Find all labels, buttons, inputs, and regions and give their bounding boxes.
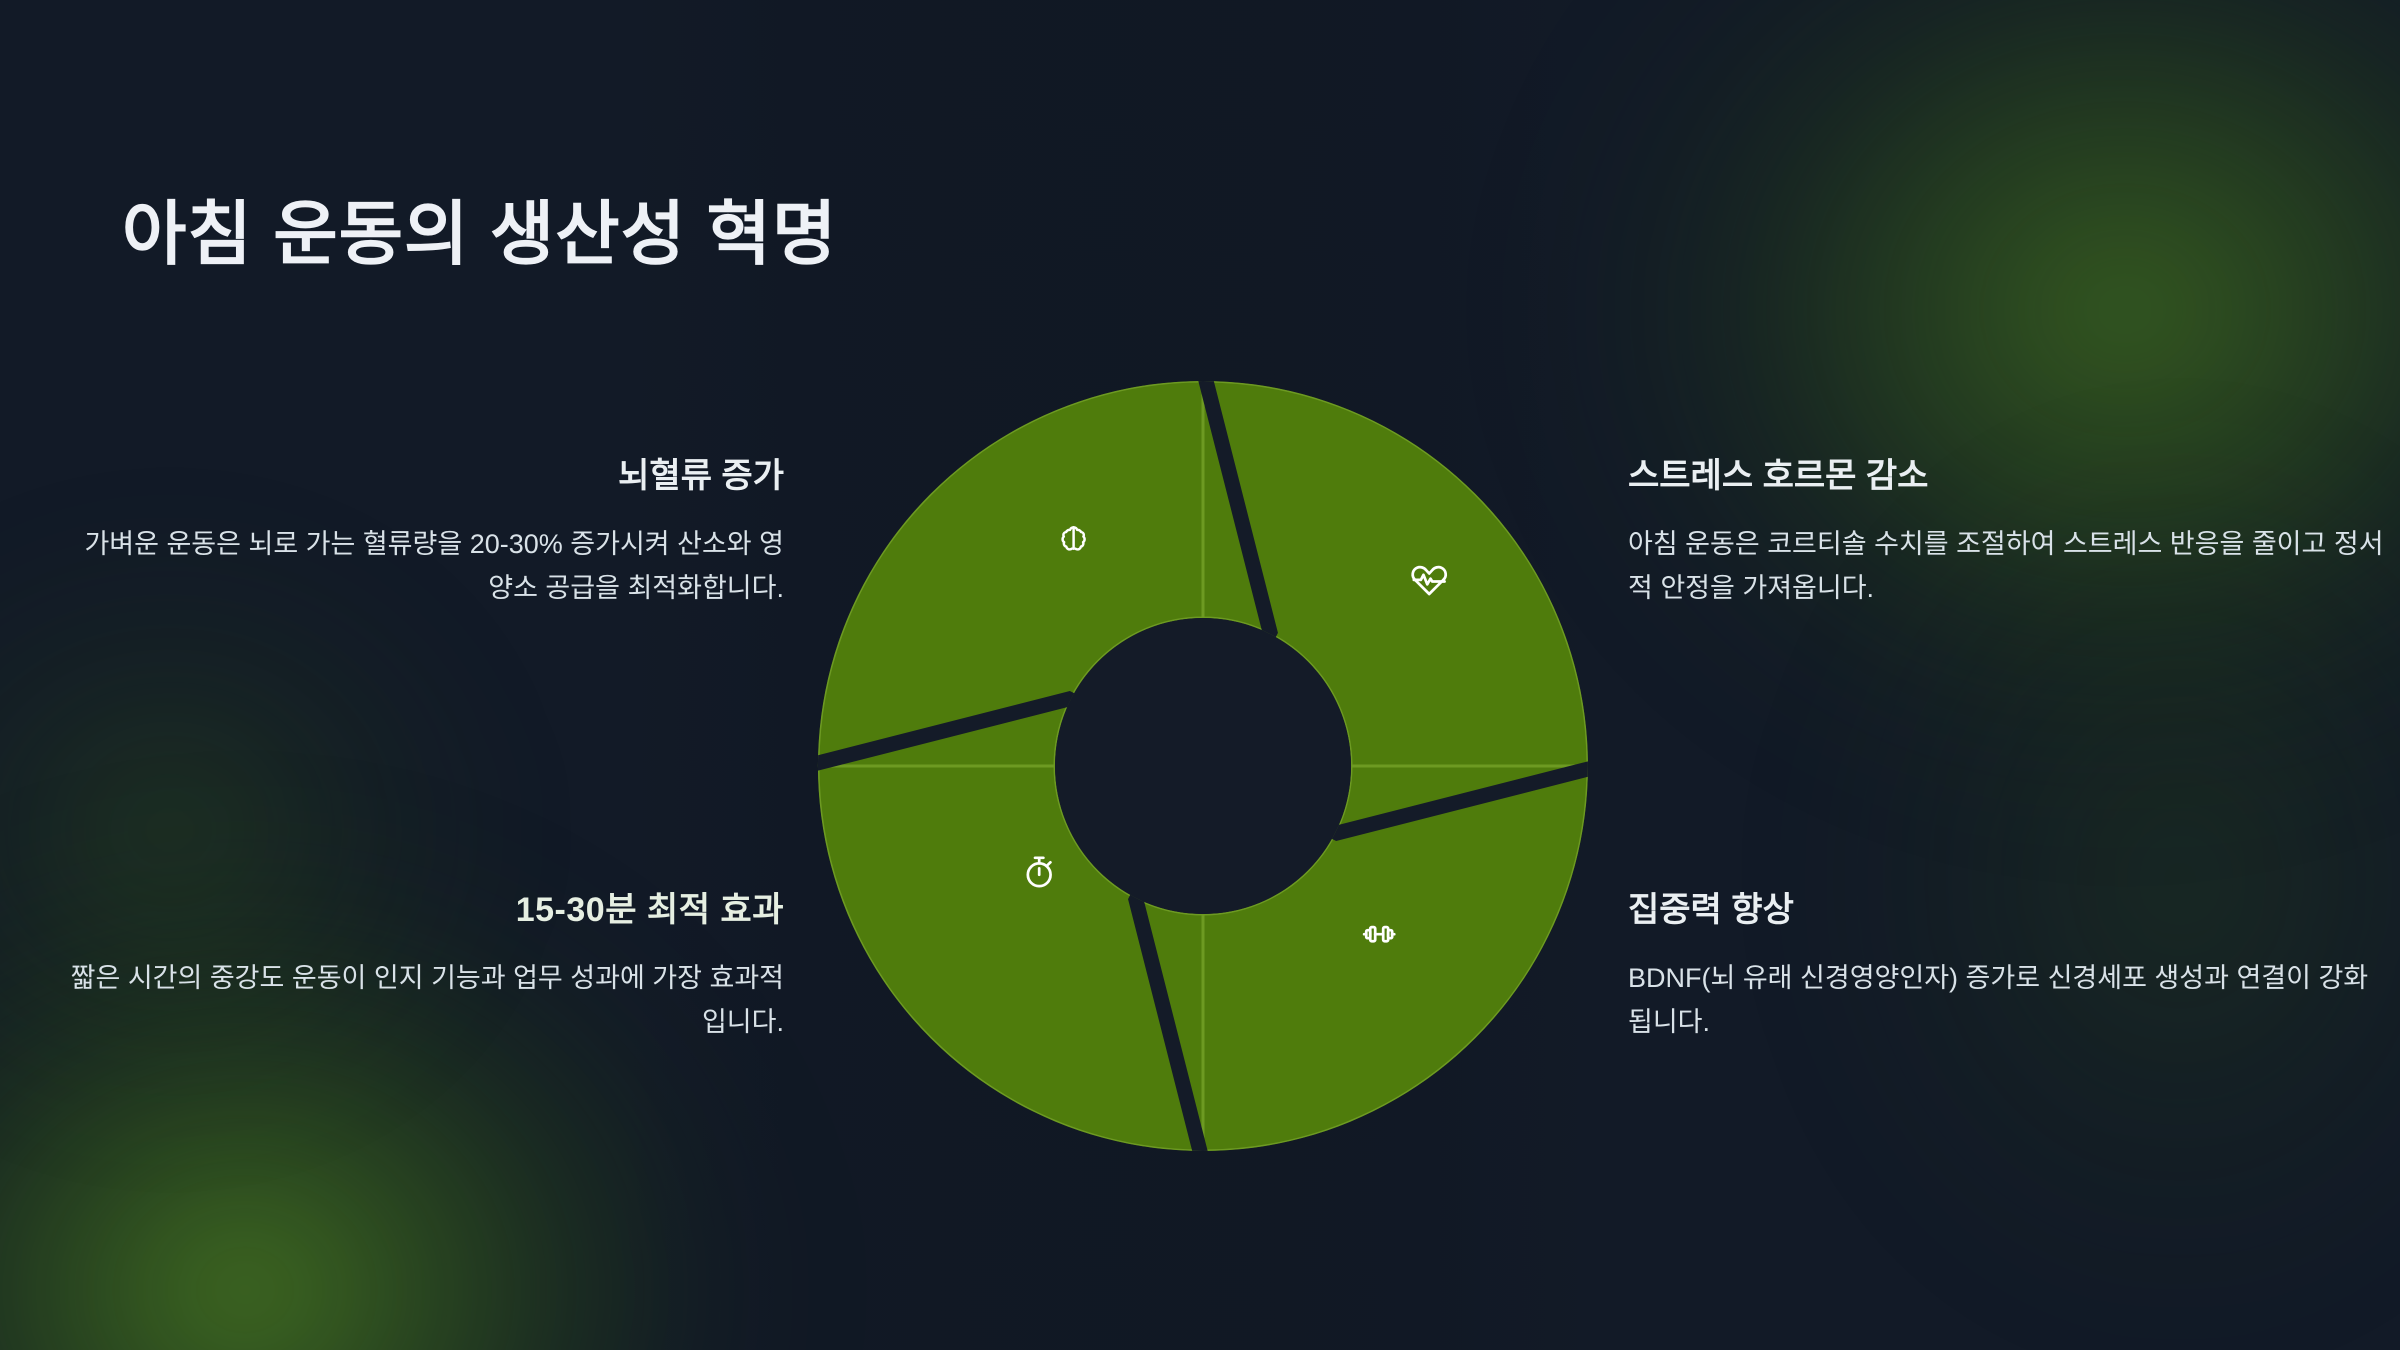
info-block-time-body: 짧은 시간의 중강도 운동이 인지 기능과 업무 성과에 가장 효과적입니다. <box>60 957 784 1044</box>
info-block-time: 15-30분 최적 효과 짧은 시간의 중강도 운동이 인지 기능과 업무 성과… <box>60 882 784 1044</box>
donut-center-hole <box>1055 618 1351 914</box>
info-block-focus-body: BDNF(뇌 유래 신경영양인자) 증가로 신경세포 생성과 연결이 강화됩니다… <box>1628 957 2388 1044</box>
background-glow-mid-left <box>0 520 520 1140</box>
info-block-focus-title: 집중력 향상 <box>1628 882 2388 931</box>
infographic-canvas: 아침 운동의 생산성 혁명 <box>0 0 2400 1350</box>
info-block-focus: 집중력 향상 BDNF(뇌 유래 신경영양인자) 증가로 신경세포 생성과 연결… <box>1628 882 2388 1044</box>
info-block-stress-title: 스트레스 호르몬 감소 <box>1628 448 2388 497</box>
info-block-stress: 스트레스 호르몬 감소 아침 운동은 코르티솔 수치를 조절하여 스트레스 반응… <box>1628 448 2388 610</box>
donut-cycle-chart <box>812 375 1594 1157</box>
page-title: 아침 운동의 생산성 혁명 <box>122 178 837 279</box>
info-block-brain-body: 가벼운 운동은 뇌로 가는 혈류량을 20-30% 증가시켜 산소와 영양소 공… <box>60 523 784 610</box>
background-glow-top-right <box>1500 0 2400 850</box>
info-block-stress-body: 아침 운동은 코르티솔 수치를 조절하여 스트레스 반응을 줄이고 정서적 안정… <box>1628 523 2388 610</box>
info-block-time-title: 15-30분 최적 효과 <box>60 882 784 931</box>
info-block-brain: 뇌혈류 증가 가벼운 운동은 뇌로 가는 혈류량을 20-30% 증가시켜 산소… <box>60 448 784 610</box>
info-block-brain-title: 뇌혈류 증가 <box>60 448 784 497</box>
